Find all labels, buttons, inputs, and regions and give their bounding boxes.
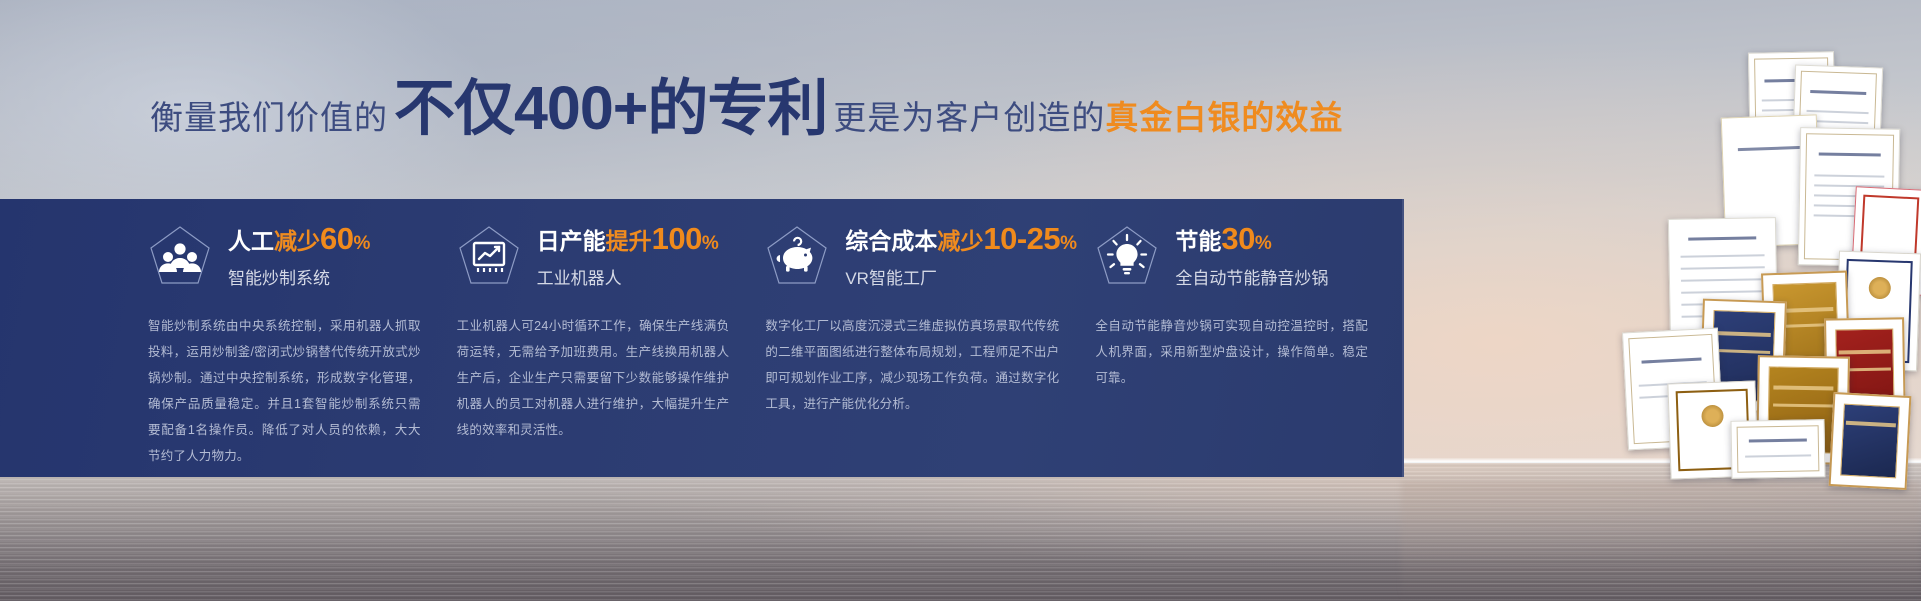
feature-description: 工业机器人可24小时循环工作，确保生产线满负荷运转，无需给予加班费用。生产线换用… <box>457 313 730 443</box>
feature-number: 60 <box>320 221 353 256</box>
feature-unit: % <box>1255 233 1272 254</box>
feature-number: 30 <box>1221 221 1254 256</box>
feature-header: 节能30% 全自动节能静音炒锅 <box>1095 199 1368 295</box>
feature-subtitle: 全自动节能静音炒锅 <box>1175 264 1328 289</box>
award-plaque <box>1829 392 1912 490</box>
feature-subtitle: 工业机器人 <box>537 264 719 289</box>
feature-list: 人工减少60% 智能炒制系统 智能炒制系统由中央系统控制，采用机器人抓取投料，运… <box>0 199 1404 477</box>
feature-headline: 综合成本减少10-25% <box>845 221 1077 257</box>
feature-subtitle: 智能炒制系统 <box>228 264 370 289</box>
feature-description: 数字化工厂以高度沉浸式三维虚拟仿真场景取代传统的二维平面图纸进行整体布局规划，工… <box>765 313 1059 417</box>
headline-prefix: 衡量我们价值的 <box>150 91 388 139</box>
feature-unit: % <box>702 233 719 254</box>
feature-headline: 节能30% <box>1175 221 1328 257</box>
feature-header: 人工减少60% 智能炒制系统 <box>148 199 421 295</box>
certificate-stack <box>1401 0 1921 601</box>
feature-titles: 节能30% 全自动节能静音炒锅 <box>1175 221 1328 291</box>
feature-number: 100 <box>652 221 702 256</box>
feature-titles: 综合成本减少10-25% VR智能工厂 <box>845 221 1077 291</box>
feature-titles: 人工减少60% 智能炒制系统 <box>228 221 370 291</box>
feature-label: 日产能 <box>537 228 606 254</box>
chart-board-icon <box>457 224 521 288</box>
feature-verb: 减少 <box>937 228 983 254</box>
feature-number: 10-25 <box>983 221 1060 256</box>
feature-headline: 日产能提升100% <box>537 221 719 257</box>
feature-header: 综合成本减少10-25% VR智能工厂 <box>765 199 1059 295</box>
piggy-bank-icon <box>765 224 829 288</box>
certificate-paper <box>1731 419 1826 479</box>
feature-verb: 减少 <box>274 228 320 254</box>
feature-unit: % <box>353 233 370 254</box>
headline-highlight: 真金白银的效益 <box>1105 91 1343 139</box>
feature-titles: 日产能提升100% 工业机器人 <box>537 221 719 291</box>
feature-subtitle: VR智能工厂 <box>845 264 1077 289</box>
feature-label: 综合成本 <box>845 228 937 254</box>
feature-description: 智能炒制系统由中央系统控制，采用机器人抓取投料，运用炒制釜/密闭式炒锅替代传统开… <box>148 313 421 469</box>
feature-item: 日产能提升100% 工业机器人 工业机器人可24小时循环工作，确保生产线满负荷运… <box>457 199 766 477</box>
page-title: 衡量我们价值的 不仅400+的专利 更是为客户创造的 真金白银的效益 <box>150 78 1343 139</box>
feature-verb: 提升 <box>606 228 652 254</box>
headline-emphasis: 不仅400+的专利 <box>394 78 827 139</box>
feature-label: 节能 <box>1175 228 1221 254</box>
feature-label: 人工 <box>228 228 274 254</box>
feature-description: 全自动节能静音炒锅可实现自动控温控时，搭配人机界面，采用新型炉盘设计，操作简单。… <box>1095 313 1368 391</box>
feature-item: 综合成本减少10-25% VR智能工厂 数字化工厂以高度沉浸式三维虚拟仿真场景取… <box>765 199 1095 477</box>
headline-middle: 更是为客户创造的 <box>833 91 1105 139</box>
feature-unit: % <box>1060 233 1077 254</box>
feature-headline: 人工减少60% <box>228 221 370 257</box>
feature-header: 日产能提升100% 工业机器人 <box>457 199 730 295</box>
team-people-icon <box>148 224 212 288</box>
feature-item: 人工减少60% 智能炒制系统 智能炒制系统由中央系统控制，采用机器人抓取投料，运… <box>148 199 457 477</box>
feature-item: 节能30% 全自动节能静音炒锅 全自动节能静音炒锅可实现自动控温控时，搭配人机界… <box>1095 199 1404 477</box>
lightbulb-icon <box>1095 224 1159 288</box>
